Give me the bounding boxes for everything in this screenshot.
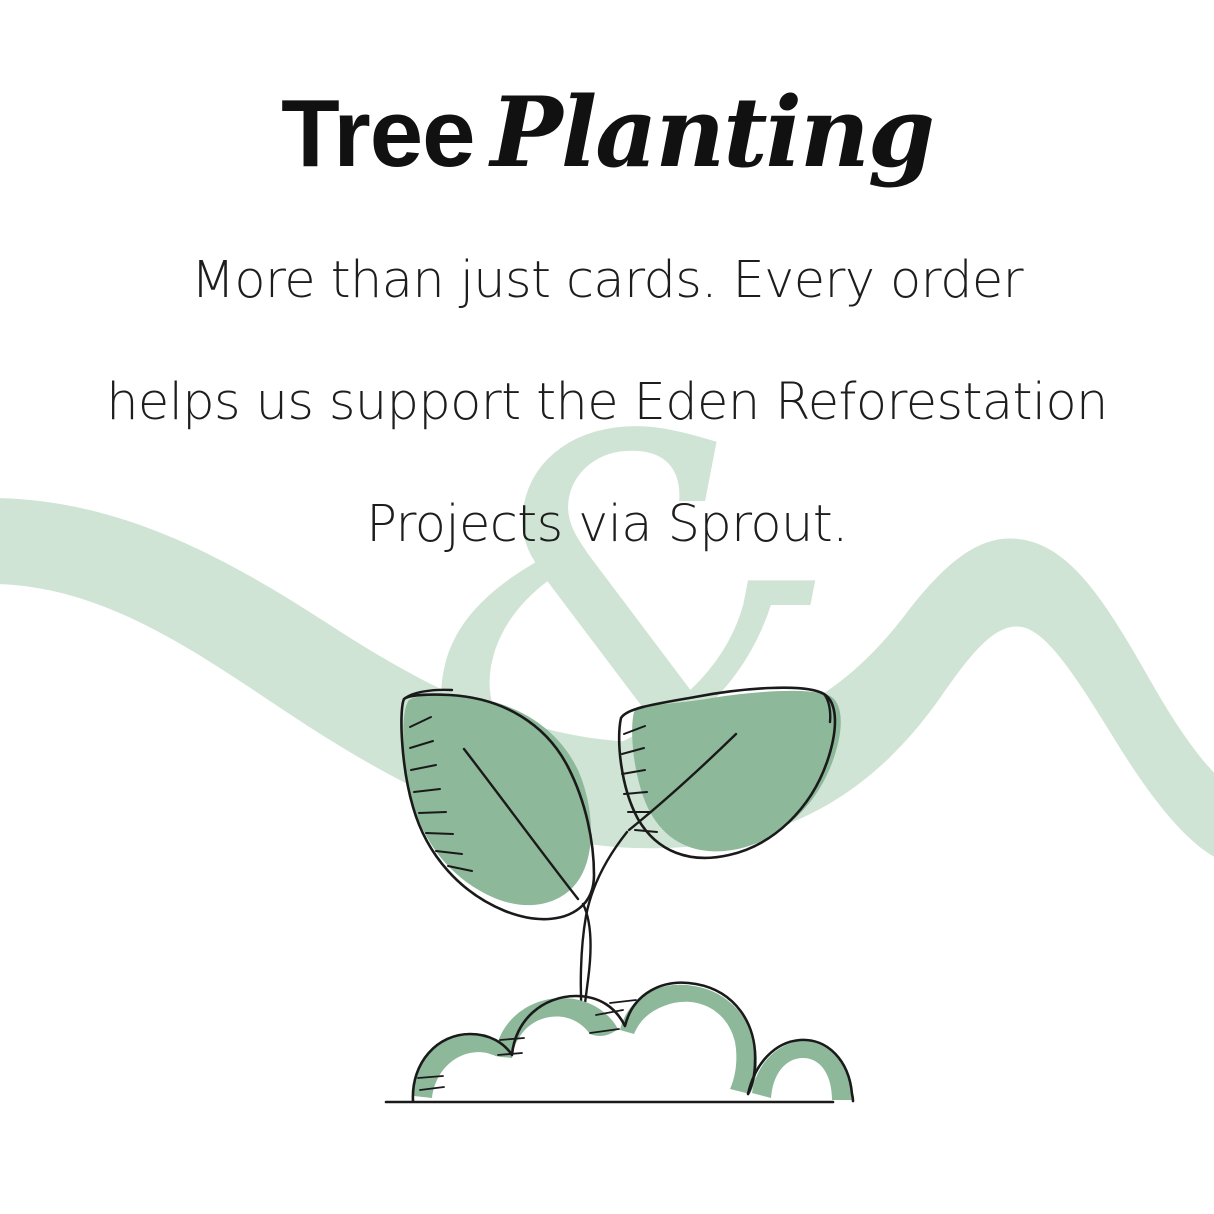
body-line-2: helps us support the Eden Reforestation [0, 373, 1214, 432]
soil-mound [386, 983, 853, 1102]
leaf-left [401, 690, 594, 919]
title-bold-part: Tree [281, 80, 474, 187]
leaf-right-fill [632, 691, 841, 852]
body-line-1: More than just cards. Every order [0, 251, 1214, 310]
stem [581, 832, 627, 1022]
tree-planting-card: & TreePlanting More than just cards. Eve… [0, 0, 1214, 1214]
title-italic-part: Planting [491, 76, 933, 189]
leaf-right [619, 688, 841, 858]
page-title: TreePlanting [0, 0, 1214, 185]
body-line-3: Projects via Sprout. [0, 495, 1214, 554]
leaf-left-fill [403, 695, 591, 905]
text-block: TreePlanting More than just cards. Every… [0, 0, 1214, 554]
soil-shade-bump-3 [620, 985, 757, 1094]
soil-shade-bump-4 [752, 1041, 852, 1100]
